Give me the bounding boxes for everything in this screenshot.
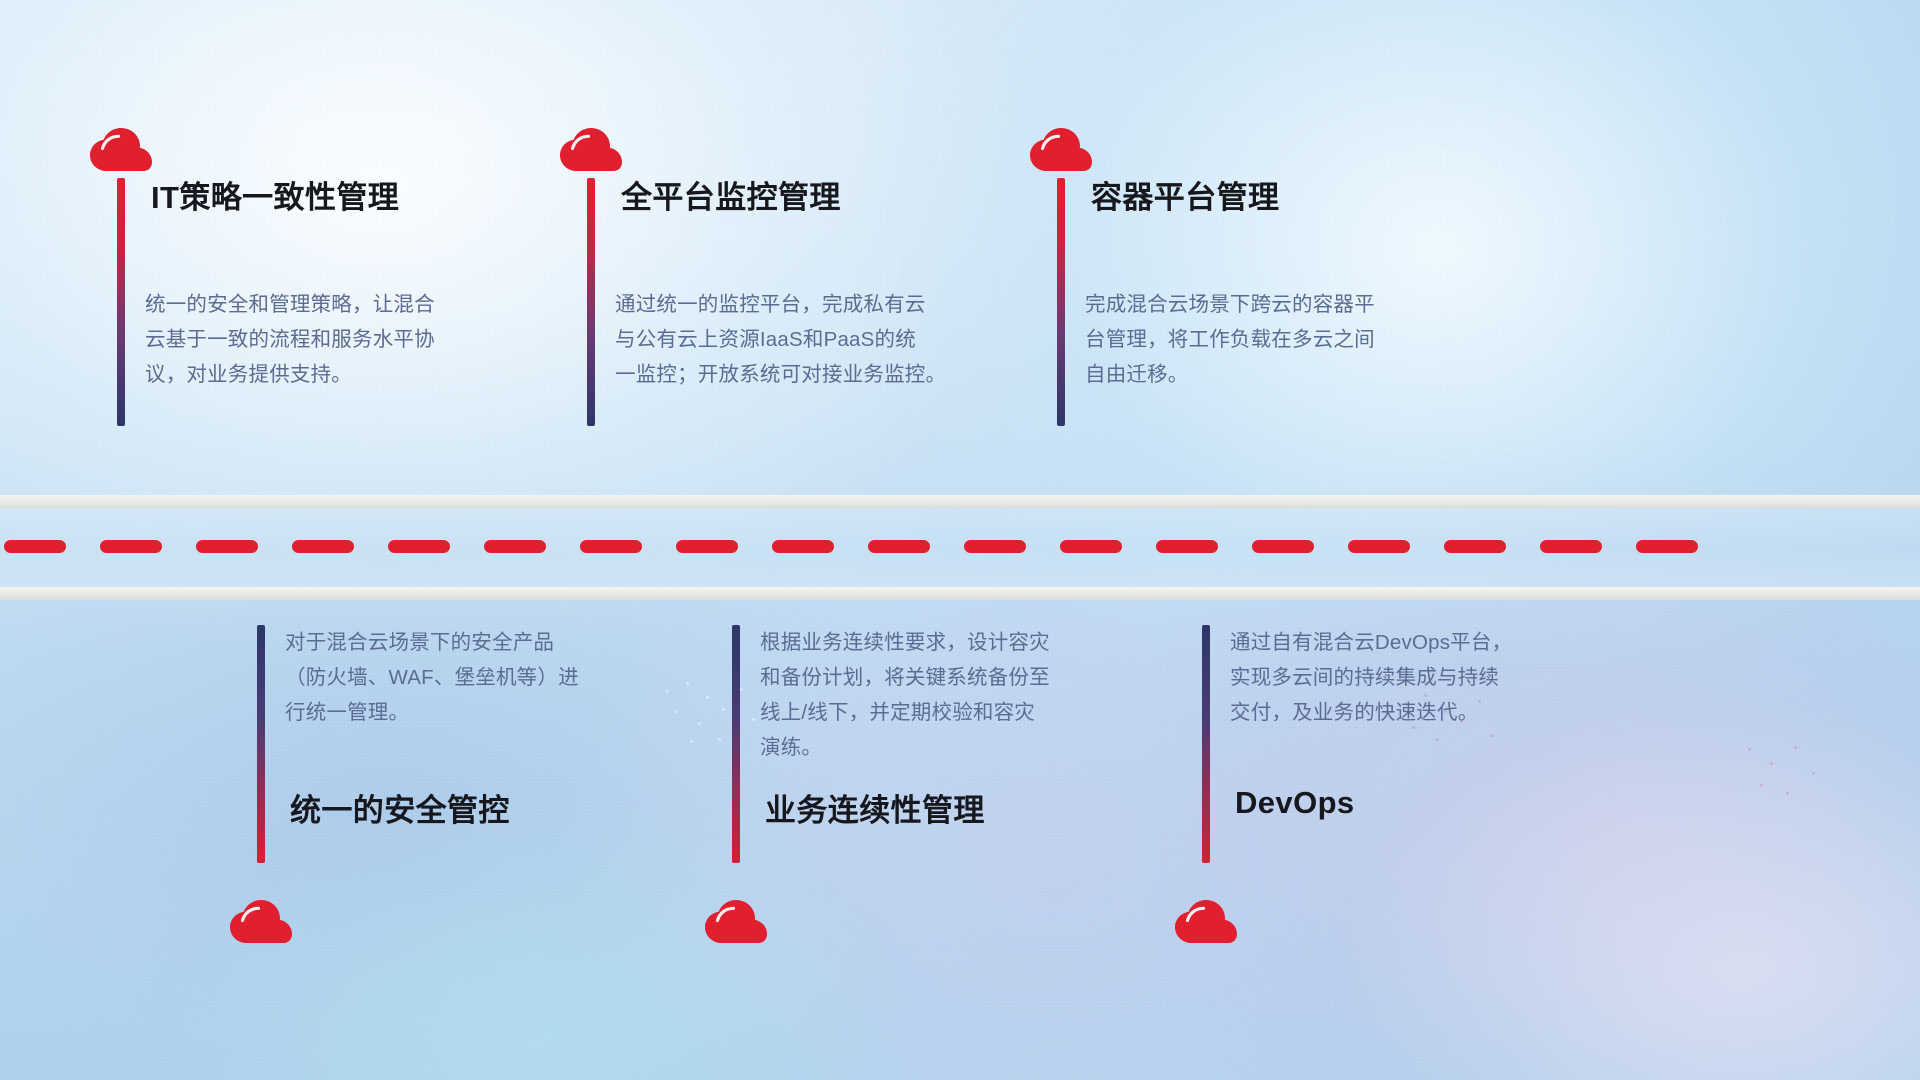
card-body-line: 自由迁移。 (1085, 357, 1375, 392)
road-dash (388, 540, 450, 553)
card-title: DevOps (1235, 785, 1355, 821)
road-dash (1060, 540, 1122, 553)
card-body-line: 完成混合云场景下跨云的容器平 (1085, 287, 1375, 322)
road-edge-bottom (0, 587, 1920, 600)
road-edge-top (0, 495, 1920, 508)
road-center-dashes (0, 540, 1920, 553)
card-body-line: 议，对业务提供支持。 (145, 357, 435, 392)
road-dash (484, 540, 546, 553)
card-body-line: 行统一管理。 (285, 695, 579, 730)
card-body: 对于混合云场景下的安全产品（防火墙、WAF、堡垒机等）进行统一管理。 (285, 625, 579, 730)
road-dash (964, 540, 1026, 553)
card-title: 业务连续性管理 (765, 785, 985, 830)
card-body-line: 一监控；开放系统可对接业务监控。 (615, 357, 946, 392)
card-title: IT策略一致性管理 (151, 172, 399, 217)
card-body-line: （防火墙、WAF、堡垒机等）进 (285, 660, 579, 695)
road-dash (580, 540, 642, 553)
cloud-icon (230, 900, 292, 944)
road-dash (1348, 540, 1410, 553)
road-dash (868, 540, 930, 553)
cloud-icon (1175, 900, 1237, 944)
card-body-line: 根据业务连续性要求，设计容灾 (760, 625, 1050, 660)
dot-cluster-red-left (1740, 740, 1850, 820)
card-body-line: 通过自有混合云DevOps平台， (1230, 625, 1512, 660)
card-body: 通过统一的监控平台，完成私有云与公有云上资源IaaS和PaaS的统一监控；开放系… (615, 287, 946, 392)
card-body-line: 台管理，将工作负载在多云之间 (1085, 322, 1375, 357)
road-dash (1540, 540, 1602, 553)
road-dash (1156, 540, 1218, 553)
road-dash (676, 540, 738, 553)
pin-stem (1057, 178, 1065, 426)
road-divider (0, 495, 1920, 600)
card-body-line: 与公有云上资源IaaS和PaaS的统 (615, 322, 946, 357)
card-body: 统一的安全和管理策略，让混合云基于一致的流程和服务水平协议，对业务提供支持。 (145, 287, 435, 392)
cloud-icon (90, 128, 152, 172)
card-body-line: 演练。 (760, 730, 1050, 765)
road-dash (772, 540, 834, 553)
road-dash (196, 540, 258, 553)
card-body-line: 通过统一的监控平台，完成私有云 (615, 287, 946, 322)
cloud-icon (705, 900, 767, 944)
card-body-line: 和备份计划，将关键系统备份至 (760, 660, 1050, 695)
road-dash (4, 540, 66, 553)
pin-stem (732, 625, 740, 863)
cloud-icon (560, 128, 622, 172)
road-dash (100, 540, 162, 553)
card-body-line: 对于混合云场景下的安全产品 (285, 625, 579, 660)
pin-stem (1202, 625, 1210, 863)
card-body-line: 云基于一致的流程和服务水平协 (145, 322, 435, 357)
road-dash (292, 540, 354, 553)
card-body: 完成混合云场景下跨云的容器平台管理，将工作负载在多云之间自由迁移。 (1085, 287, 1375, 392)
road-dash (1252, 540, 1314, 553)
card-title: 全平台监控管理 (621, 172, 841, 217)
pin-stem (587, 178, 595, 426)
card-title: 统一的安全管控 (290, 785, 510, 830)
cloud-icon (1030, 128, 1092, 172)
card-body-line: 统一的安全和管理策略，让混合 (145, 287, 435, 322)
road-dash (1444, 540, 1506, 553)
card-title: 容器平台管理 (1091, 172, 1279, 217)
card-body: 通过自有混合云DevOps平台，实现多云间的持续集成与持续交付，及业务的快速迭代… (1230, 625, 1512, 730)
card-body: 根据业务连续性要求，设计容灾和备份计划，将关键系统备份至线上/线下，并定期校验和… (760, 625, 1050, 765)
road-dash (1636, 540, 1698, 553)
card-body-line: 交付，及业务的快速迭代。 (1230, 695, 1512, 730)
pin-stem (117, 178, 125, 426)
card-body-line: 实现多云间的持续集成与持续 (1230, 660, 1512, 695)
card-body-line: 线上/线下，并定期校验和容灾 (760, 695, 1050, 730)
pin-stem (257, 625, 265, 863)
